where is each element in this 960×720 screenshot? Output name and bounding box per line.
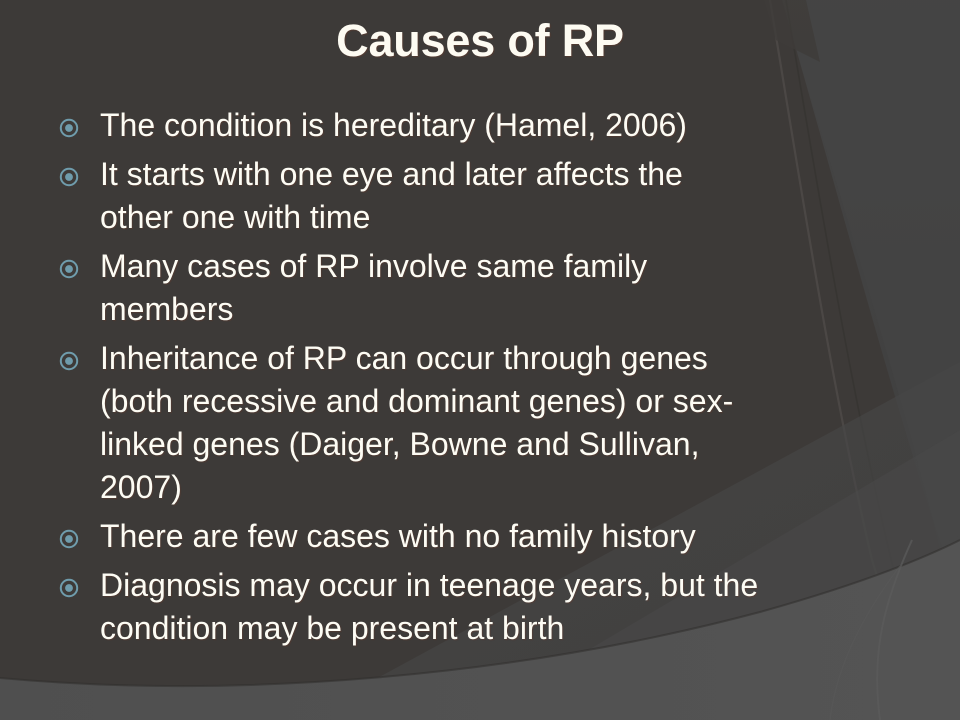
bullet-list: The condition is hereditary (Hamel, 2006… [58,104,942,656]
list-item: Inheritance of RP can occur through gene… [58,337,942,509]
list-item-text: The condition is hereditary (Hamel, 2006… [100,104,942,147]
list-item: Diagnosis may occur in teenage years, bu… [58,564,942,650]
list-item-text: It starts with one eye and later affects… [100,153,942,239]
target-ring-bullet-icon [58,564,100,599]
list-item-text: Diagnosis may occur in teenage years, bu… [100,564,942,650]
list-item: The condition is hereditary (Hamel, 2006… [58,104,942,147]
target-ring-bullet-icon [58,153,100,188]
target-ring-bullet-icon [58,245,100,280]
list-item-text: Many cases of RP involve same family mem… [100,245,942,331]
list-item: Many cases of RP involve same family mem… [58,245,942,331]
list-item: It starts with one eye and later affects… [58,153,942,239]
presentation-slide: Causes of RP The condition is hereditary… [0,0,960,720]
target-ring-bullet-icon [58,515,100,550]
list-item-text: There are few cases with no family histo… [100,515,942,558]
target-ring-bullet-icon [58,337,100,372]
list-item-text: Inheritance of RP can occur through gene… [100,337,942,509]
list-item: There are few cases with no family histo… [58,515,942,558]
target-ring-bullet-icon [58,104,100,139]
slide-title: Causes of RP [0,16,960,66]
